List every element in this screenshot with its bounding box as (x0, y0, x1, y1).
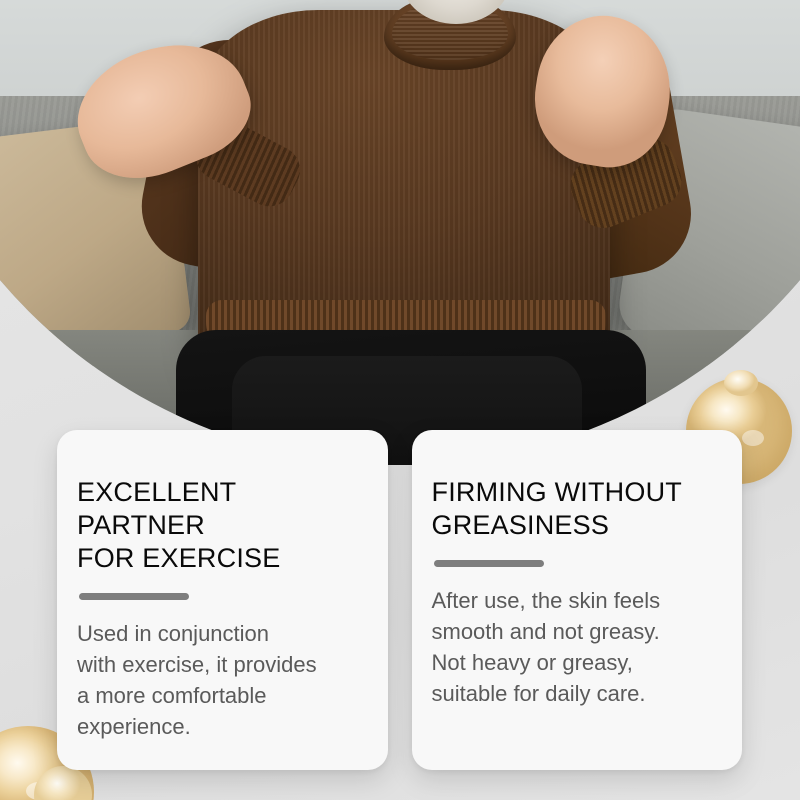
feature-card-exercise-body: Used in conjunction with exercise, it pr… (77, 618, 366, 742)
feature-card-firming-body: After use, the skin feels smooth and not… (432, 585, 721, 709)
hero-scene (0, 0, 800, 465)
feature-card-exercise: EXCELLENT PARTNER FOR EXERCISE Used in c… (57, 430, 388, 770)
promo-poster: EXCELLENT PARTNER FOR EXERCISE Used in c… (0, 0, 800, 800)
feature-card-firming: FIRMING WITHOUT GREASINESS After use, th… (412, 430, 743, 770)
feature-card-exercise-title: EXCELLENT PARTNER FOR EXERCISE (77, 476, 366, 575)
feature-card-firming-title: FIRMING WITHOUT GREASINESS (432, 476, 721, 542)
feature-cards: EXCELLENT PARTNER FOR EXERCISE Used in c… (57, 430, 742, 770)
feature-card-exercise-rule (79, 593, 189, 600)
feature-card-firming-rule (434, 560, 544, 567)
hero-circle-photo (0, 0, 800, 465)
